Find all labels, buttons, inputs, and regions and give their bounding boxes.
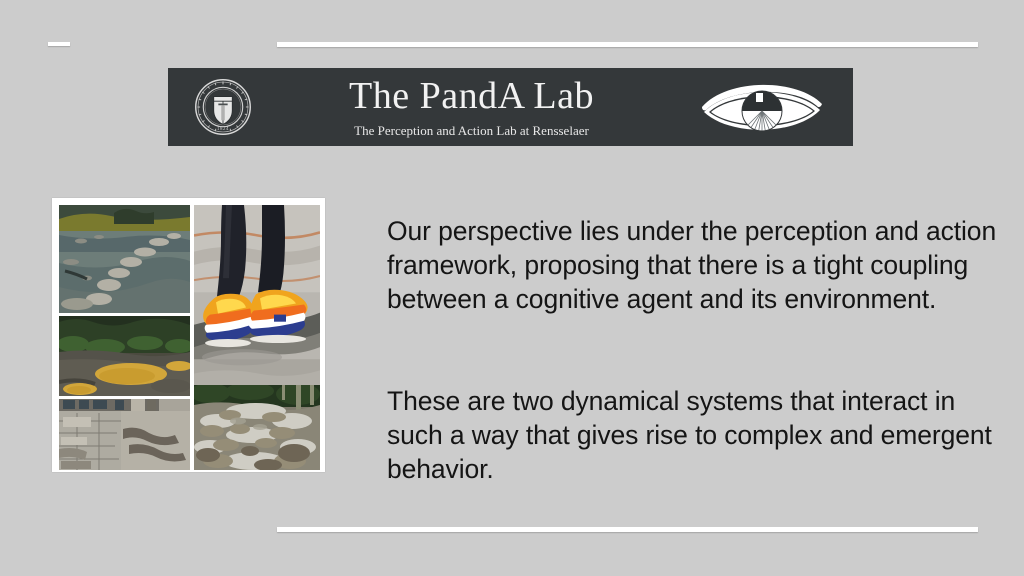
photo-sneakers-curb (194, 205, 320, 410)
lab-title: The PandA Lab (246, 77, 697, 115)
eye-logo-icon (697, 76, 827, 138)
photo-broken-pavement (59, 399, 190, 470)
photo-muddy-path (59, 316, 190, 396)
body-copy: Our perspective lies under the perceptio… (387, 187, 999, 512)
lab-banner: 1824 The PandA Lab The Perception and Ac… (168, 68, 853, 146)
photo-rocky-trail (194, 385, 320, 470)
banner-titles: The PandA Lab The Perception and Action … (246, 77, 697, 137)
lab-subtitle: The Perception and Action Lab at Renssel… (246, 124, 697, 137)
photo-collage (52, 198, 325, 472)
svg-text:1824: 1824 (217, 127, 229, 132)
bottom-divider-rule (277, 527, 978, 532)
paragraph-two: These are two dynamical systems that int… (387, 384, 999, 486)
top-divider-rule (277, 42, 978, 47)
paragraph-one: Our perspective lies under the perceptio… (387, 214, 999, 316)
photo-stepping-stones (59, 205, 190, 313)
rpi-seal-icon: 1824 (194, 78, 252, 136)
top-left-dash-rule (48, 42, 70, 46)
